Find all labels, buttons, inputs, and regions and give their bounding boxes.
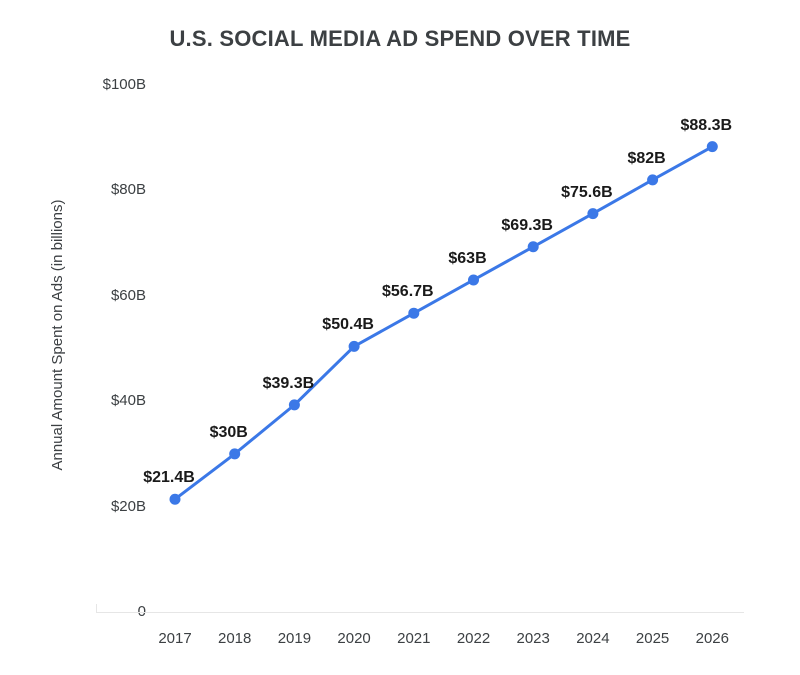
- data-point-label: $75.6B: [561, 184, 613, 202]
- data-point-label: $21.4B: [143, 469, 195, 487]
- data-point-marker[interactable]: [408, 308, 419, 319]
- data-point-label: $88.3B: [681, 117, 733, 135]
- data-point-marker[interactable]: [707, 141, 718, 152]
- data-point-label: $39.3B: [263, 375, 315, 393]
- line-plot-area: [0, 0, 800, 675]
- data-point-marker[interactable]: [587, 208, 598, 219]
- data-point-marker[interactable]: [528, 241, 539, 252]
- data-point-marker[interactable]: [289, 399, 300, 410]
- data-point-marker[interactable]: [647, 174, 658, 185]
- data-point-marker[interactable]: [468, 274, 479, 285]
- data-point-label: $82B: [627, 150, 665, 168]
- data-point-marker[interactable]: [170, 494, 181, 505]
- data-point-label: $63B: [448, 250, 486, 268]
- data-point-label: $56.7B: [382, 283, 434, 301]
- data-point-marker[interactable]: [349, 341, 360, 352]
- x-axis-tick-label: 2026: [677, 630, 747, 647]
- data-point-label: $50.4B: [322, 316, 374, 334]
- series-line: [175, 147, 712, 500]
- data-point-marker[interactable]: [229, 448, 240, 459]
- data-point-label: $30B: [210, 424, 248, 442]
- chart-container: U.S. SOCIAL MEDIA AD SPEND OVER TIME Ann…: [0, 0, 800, 675]
- data-point-label: $69.3B: [501, 217, 553, 235]
